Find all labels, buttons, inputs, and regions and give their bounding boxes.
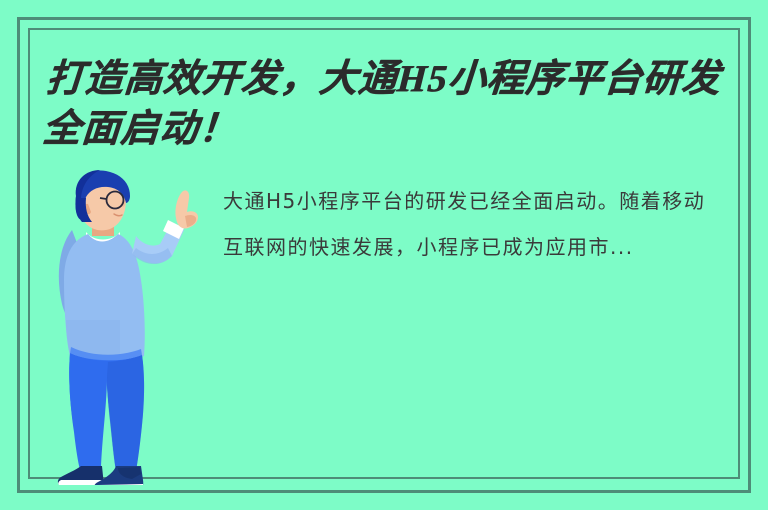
page-title: 打造高效开发，大通H5小程序平台研发全面启动！ — [41, 54, 728, 154]
article-card: 打造高效开发，大通H5小程序平台研发全面启动！ — [0, 0, 768, 510]
article-excerpt: 大通H5小程序平台的研发已经全面启动。随着移动互联网的快速发展，小程序已成为应用… — [223, 178, 723, 270]
man-pointing-illustration — [48, 170, 213, 485]
content-row: 大通H5小程序平台的研发已经全面启动。随着移动互联网的快速发展，小程序已成为应用… — [48, 170, 738, 490]
